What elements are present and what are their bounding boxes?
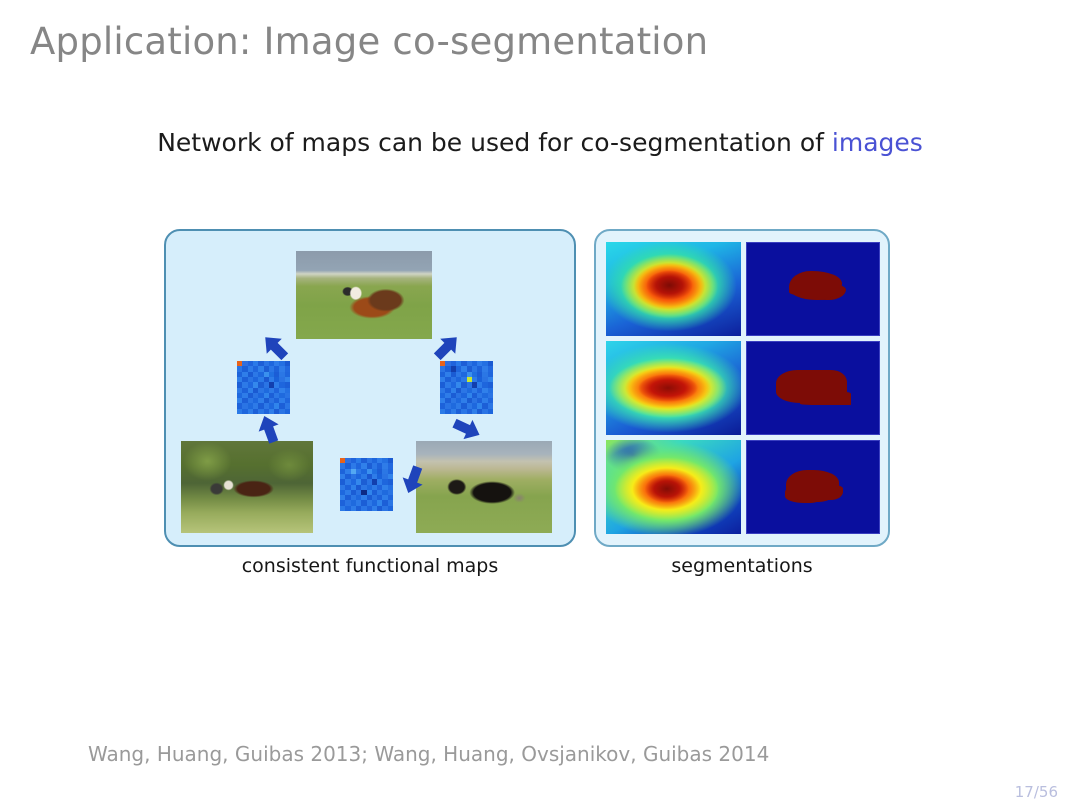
citation-text: Wang, Huang, Guibas 2013; Wang, Huang, O…	[88, 742, 769, 766]
page-number: 17/56	[1015, 783, 1058, 801]
subtitle-text: Network of maps can be used for co-segme…	[157, 128, 832, 157]
segmentation-grid	[606, 242, 880, 534]
functional-map-cell	[285, 409, 290, 414]
subtitle-highlight-images: images	[832, 128, 923, 157]
subtitle: Network of maps can be used for co-segme…	[0, 128, 1080, 157]
segmentation-heatmap-2	[606, 341, 741, 435]
segmentation-mask-3	[746, 440, 881, 534]
cow-photo-top	[296, 251, 432, 339]
caption-segmentations: segmentations	[594, 555, 890, 577]
page-title: Application: Image co-segmentation	[30, 20, 708, 63]
functional-map-cell	[488, 409, 493, 414]
cow-photo-bottom-left	[181, 441, 313, 533]
segmentation-heatmap-3	[606, 440, 741, 534]
mask-blob-2	[776, 370, 848, 403]
caption-consistent-functional-maps: consistent functional maps	[164, 555, 576, 577]
functional-map-left	[237, 361, 290, 414]
segmentation-mask-1	[746, 242, 881, 336]
mask-blob-1	[789, 271, 842, 300]
cow-photo-bottom-right	[416, 441, 552, 533]
mask-blob-3	[786, 470, 839, 501]
segmentation-heatmap-1	[606, 242, 741, 336]
functional-map-bottom	[340, 458, 393, 511]
segmentation-mask-2	[746, 341, 881, 435]
functional-map-cell	[388, 506, 393, 511]
